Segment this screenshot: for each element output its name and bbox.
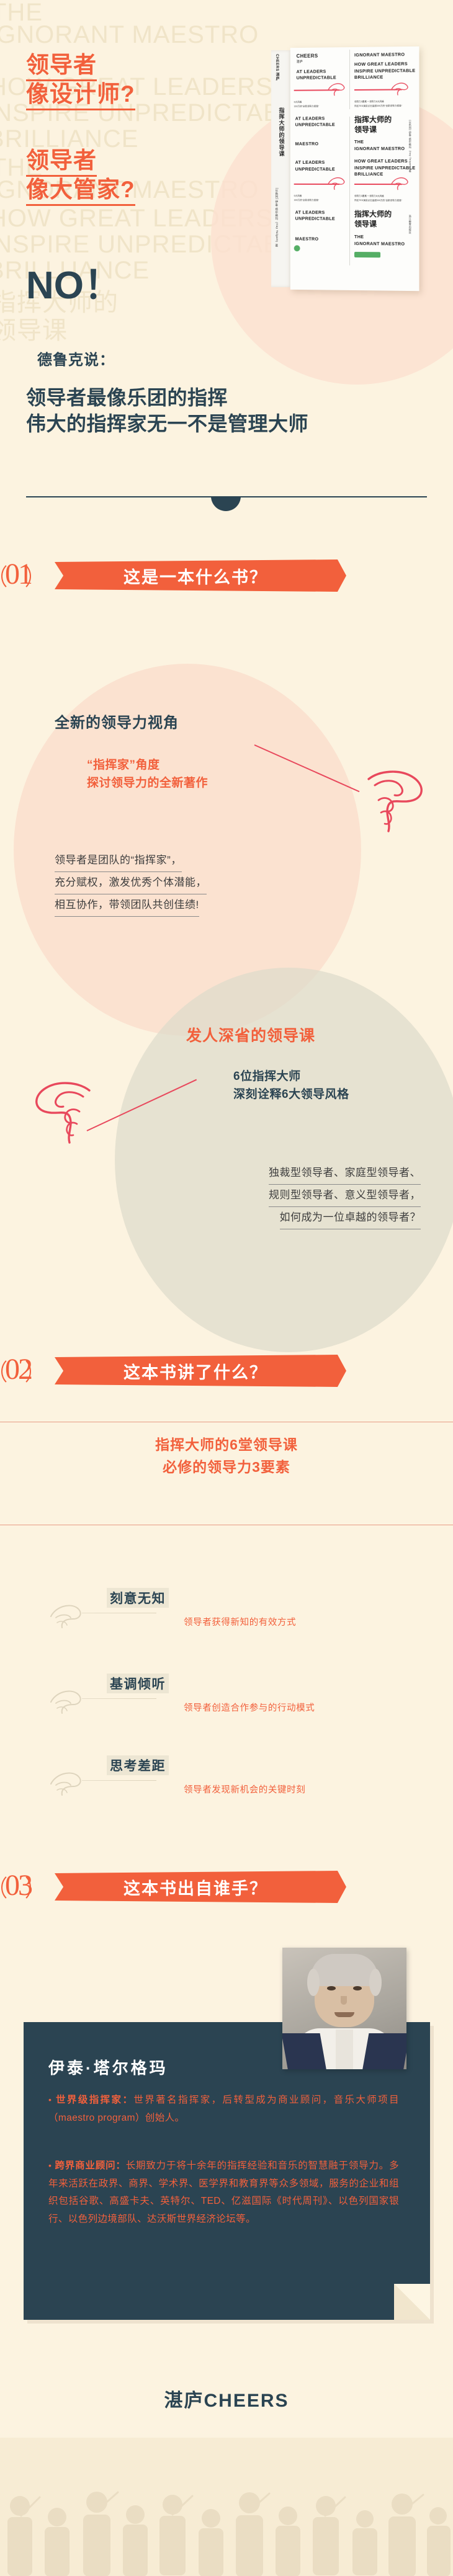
section-title-01: 这是一本什么书？	[123, 564, 267, 588]
author-name: 伊泰·塔尔格玛	[48, 2056, 168, 2079]
section-title-02: 这本书讲了什么？	[123, 1359, 267, 1383]
s1a-body-line3: 相互协作，带领团队共创佳绩!	[55, 894, 199, 917]
book-vertical-publisher: 浙江教育出版社	[408, 215, 411, 264]
conductor-hand-icon	[327, 175, 348, 192]
s2-kicker-line1: 指挥大师的6堂领导课	[0, 1434, 453, 1456]
book-vertical-author: [以色列] 伊泰·塔尔格玛（Itay Talgam）著	[408, 120, 411, 195]
element-title-3: 思考差距	[107, 1755, 169, 1775]
section-header-01: 01 这是一本什么书？	[0, 556, 453, 599]
book-side-tiny-1b: 6大风格	[294, 195, 302, 198]
book-title-en-1: IGNORANT MAESTRO	[354, 51, 415, 59]
author-bio-item-2: • 跨界商业顾问：长期致力于将十余年的指挥经验和音乐的智慧融于领导力。多年来活跃…	[48, 2157, 399, 2229]
bio-lead-2: 跨界商业顾问：	[55, 2160, 125, 2171]
book-spine: CHEERS 湛庐 指挥大师的领导课 [以色列] 伊泰·塔尔格玛（Itay Ta…	[271, 50, 292, 287]
element-lead-line-2	[82, 1698, 156, 1699]
hero-question-1: 领导者 像设计师?	[26, 52, 135, 110]
book-spine-title: 指挥大师的领导课	[277, 107, 285, 157]
book-left-en-2b: UNPREDICTABLE	[295, 122, 335, 129]
s1b-sub-line1: 6位指挥大师	[233, 1068, 349, 1086]
section-ribbon-01: 这是一本什么书？	[55, 559, 346, 592]
s1a-body-line2: 充分赋权，激发优秀个体潜能，	[55, 872, 207, 894]
section2-kicker: 指挥大师的6堂领导课 必修的领导力3要素	[0, 1434, 453, 1478]
bio-lead-1: 世界级指挥家：	[56, 2095, 133, 2105]
book-spine-brand: CHEERS 湛庐	[274, 54, 279, 81]
book-title-en-3: INSPIRE UNPREDICTABLE	[354, 68, 415, 74]
element-title-1: 刻意无知	[107, 1588, 169, 1608]
s1b-sub-line2: 深刻诠释6大领导风格	[233, 1086, 349, 1104]
book-title-en-1c: IGNORANT MAESTRO	[354, 241, 405, 247]
book-left-en-3d: MAESTRO	[295, 236, 335, 243]
book-sub-tiny-1: 领导力3要素 + 领导力6大风格	[354, 100, 384, 104]
author-bio-item-1: • 世界级指挥家：世界著名指挥家，后转型成为商业顾问，音乐大师项目（maestr…	[48, 2092, 399, 2127]
book-spine-author: [以色列] 伊泰·塔尔格玛（Itay Talgam）著	[274, 188, 279, 247]
book-sub-tiny-1b: 领导力3要素 + 领导力6大风格	[354, 195, 384, 198]
publisher-logo: 湛庐CHEERS	[0, 2385, 453, 2412]
bio-bullet-1: •	[48, 2095, 52, 2105]
element-desc-1: 领导者获得新知的有效方式	[184, 1615, 296, 1628]
publisher-logo-cn: 湛庐	[164, 2391, 204, 2411]
book-title-cn-1b: 指挥大师的	[354, 210, 405, 220]
element-title-2: 基调倾听	[107, 1674, 169, 1693]
book-title-cn-2b: 领导课	[354, 220, 405, 230]
book-side-tiny-2b: 300万的“全新领导力视角”	[294, 199, 319, 202]
s1b-body-line3: 如何成为一位卓越的领导者？	[280, 1207, 421, 1229]
book-title-cn-2: 领导课	[354, 125, 415, 135]
section-ribbon-02: 这本书讲了什么？	[55, 1355, 346, 1387]
author-portrait	[282, 1948, 406, 2069]
s1b-body-line2: 规则型领导者、意义型领导者，	[269, 1185, 421, 1207]
s1a-title: 全新的领导力视角	[55, 710, 179, 732]
publisher-logo-en: CHEERS	[204, 2391, 289, 2411]
book-side-tiny-1: 6大风格	[294, 101, 302, 104]
drucker-label: 德鲁克说：	[37, 347, 115, 369]
element-lead-line-1	[82, 1613, 156, 1613]
hero-q1-line2: 像设计师?	[26, 81, 135, 110]
hero-q1-line1: 领导者	[26, 52, 97, 81]
section-header-03: 03 这本书出自谁手？	[0, 1867, 453, 1910]
hero-question-2: 领导者 像大管家?	[26, 148, 135, 206]
element-desc-2: 领导者创造合作参与的行动模式	[184, 1701, 315, 1714]
s1b-title: 发人深省的领导课	[186, 1023, 315, 1046]
s1b-body: 独裁型领导者、家庭型领导者、 规则型领导者、意义型领导者， 如何成为一位卓越的领…	[173, 1162, 421, 1229]
element-item-3: 思考差距 领导者发现新机会的关键时刻	[0, 1755, 453, 1812]
conductor-hand-outline-icon	[48, 1686, 87, 1716]
book-side-tiny-2: 300万的“全新领导力视角”	[294, 105, 319, 109]
hero-no-statement: NO！	[26, 267, 122, 305]
book-brand: CHEERS	[297, 52, 336, 60]
section-title-03: 这本书出自谁手？	[123, 1875, 267, 1899]
book-front-cover: CHEERS 湛庐 AT LEADERS UNPREDICTABLE IGNOR…	[290, 47, 419, 291]
book-left-en-2c: UNPREDICTABLE	[295, 166, 335, 172]
book-left-en-1c: AT LEADERS	[295, 159, 335, 166]
section-number-03: 03	[5, 1868, 31, 1902]
conductor-hand-icon	[390, 80, 411, 97]
element-item-2: 基调倾听 领导者创造合作参与的行动模式	[0, 1674, 453, 1731]
conductor-hand-icon-left	[21, 1081, 93, 1150]
book-title-cn-1: 指挥大师的	[354, 115, 415, 125]
hero-divider-dot	[211, 496, 241, 511]
s1b-subtitle: 6位指挥大师 深刻诠释6大领导风格	[233, 1068, 349, 1103]
book-left-en-1: AT LEADERS	[297, 68, 336, 75]
s1a-body-line1: 领导者是团队的“指挥家”，	[55, 850, 182, 872]
book-sub-tiny-2: 同名TED演讲点击量超300万的“全新领导力视角”	[354, 105, 402, 109]
hero-q2-line2: 像大管家?	[26, 177, 135, 206]
s1a-sub-line1: “指挥家”角度	[87, 757, 208, 775]
hero-section: 领导者 像设计师? 领导者 像大管家? NO！ 德鲁克说： 领导者最像乐团的指挥…	[0, 0, 453, 558]
hero-q2-line1: 领导者	[26, 148, 97, 177]
s2-kicker-line2: 必修的领导力3要素	[0, 1456, 453, 1479]
element-item-1: 刻意无知 领导者获得新知的有效方式	[0, 1588, 453, 1645]
conductor-hand-outline-icon	[48, 1768, 87, 1798]
section2-rule-top	[0, 1422, 453, 1422]
book-left-en-1d: AT LEADERS	[295, 210, 335, 216]
conductor-hand-icon	[327, 81, 348, 98]
conductor-hand-icon-right	[365, 769, 434, 836]
s1a-subtitle: “指挥家”角度 探讨领导力的全新著作	[87, 757, 208, 792]
drucker-quote: 领导者最像乐团的指挥 伟大的指挥家无一不是管理大师	[26, 385, 308, 437]
footer-crowd-illustration	[0, 2438, 453, 2576]
s1a-sub-line2: 探讨领导力的全新著作	[87, 775, 208, 793]
book-title-en-2b: HOW GREAT LEADERS	[354, 158, 415, 165]
book-left-en-3b: MAESTRO	[295, 141, 335, 148]
bio-bullet-2: •	[48, 2160, 52, 2170]
book-cover-image: CHEERS 湛庐 指挥大师的领导课 [以色列] 伊泰·塔尔格玛（Itay Ta…	[271, 47, 420, 292]
book-title-en-3b: INSPIRE UNPREDICTABLE	[354, 164, 415, 171]
book-left-en-1b: AT LEADERS	[295, 115, 335, 122]
section-ribbon-03: 这本书出自谁手？	[55, 1871, 346, 1903]
book-title-en-1b: IGNORANT MAESTRO	[354, 145, 415, 152]
book-title-en-2: HOW GREAT LEADERS	[354, 61, 415, 68]
book-brand-cn: 湛庐	[297, 60, 336, 65]
quote-line-1: 领导者最像乐团的指挥	[26, 385, 308, 411]
s1a-body: 领导者是团队的“指挥家”， 充分赋权，激发优秀个体潜能， 相互协作，带领团队共创…	[55, 850, 207, 917]
book-sub-tiny-2b: 同名TED演讲点击量超300万的“全新领导力视角”	[354, 199, 402, 203]
book-the: THE	[354, 139, 415, 146]
section-number-02: 02	[5, 1352, 31, 1386]
book-left-en-2d: UNPREDICTABLE	[295, 216, 335, 223]
element-lead-line-3	[82, 1780, 156, 1781]
section-header-02: 02 这本书讲了什么？	[0, 1351, 453, 1394]
section2-rule-bottom	[0, 1525, 453, 1525]
conductor-hand-outline-icon	[48, 1600, 87, 1630]
book-the-b: THE	[354, 234, 405, 241]
quote-line-2: 伟大的指挥家无一不是管理大师	[26, 411, 308, 437]
element-desc-3: 领导者发现新机会的关键时刻	[184, 1783, 305, 1796]
section-number-01: 01	[5, 557, 31, 591]
s1b-body-line1: 独裁型领导者、家庭型领导者、	[269, 1162, 421, 1185]
